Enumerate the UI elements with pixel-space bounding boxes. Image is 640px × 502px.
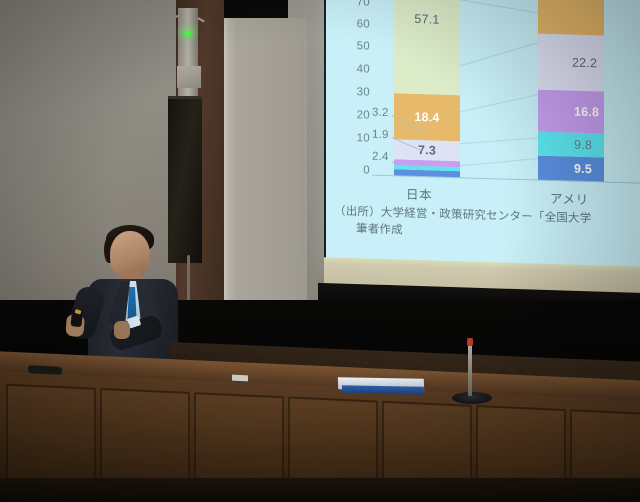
bar-america-segment-2: 9.8 — [538, 132, 604, 158]
floor — [0, 478, 640, 502]
lower-hand — [114, 321, 130, 339]
segment-connector-2 — [460, 41, 542, 66]
y-tick-30: 30 — [357, 86, 370, 98]
small-desk-item — [232, 375, 248, 382]
segment-connector-1 — [460, 0, 545, 15]
microphone-base — [452, 392, 492, 404]
y-tick-50: 50 — [357, 40, 370, 52]
bar-america: 9.5 9.8 16.8 22.2 — [538, 2, 604, 182]
x-label-japan: 日本 — [406, 184, 432, 204]
chart-source-note: （出所）大学経営・政策研究センター「全国大学 筆者作成 — [334, 204, 640, 247]
segment-connector-5 — [460, 157, 545, 166]
x-label-america: アメリ — [550, 188, 589, 208]
callout-1-9: 1.9 — [372, 129, 389, 141]
y-tick-10: 10 — [357, 132, 370, 144]
y-tick-20: 20 — [357, 109, 370, 121]
source-line-2: 筆者作成 — [356, 221, 640, 246]
y-axis: 70 60 50 40 30 20 10 0 — [342, 0, 372, 181]
y-tick-60: 60 — [357, 18, 370, 30]
bar-japan: 2.4 1.9 7.3 18.4 57.1 — [394, 0, 460, 177]
wall-equipment-box — [177, 66, 201, 88]
blue-folder — [342, 385, 424, 394]
microphone-indicator — [467, 338, 473, 346]
y-tick-70: 70 — [357, 0, 370, 9]
projection-screen: 70 60 50 40 30 20 10 0 2.4 — [326, 0, 640, 275]
chart-plot-area: 70 60 50 40 30 20 10 0 2.4 — [342, 0, 640, 189]
microphone-stem — [468, 342, 472, 396]
callout-2-4: 2.4 — [372, 151, 389, 163]
y-tick-0: 0 — [363, 164, 370, 176]
bar-america-segment-3: 16.8 — [538, 90, 604, 134]
bar-japan-segment-5: 18.4 — [394, 93, 460, 141]
lecture-hall-photo: 70 60 50 40 30 20 10 0 2.4 — [0, 0, 640, 502]
bar-america-segment-1: 9.5 — [538, 156, 604, 182]
projected-slide: 70 60 50 40 30 20 10 0 2.4 — [326, 0, 640, 275]
bar-america-segment-5 — [538, 0, 604, 36]
status-led-indicator — [184, 31, 191, 35]
segment-connector-4 — [460, 137, 546, 144]
desk-object — [28, 365, 62, 375]
bar-america-segment-4: 22.2 — [538, 34, 604, 92]
bar-japan-segment-6: 57.1 — [394, 0, 460, 95]
callout-3-2: 3.2 — [372, 107, 389, 119]
y-tick-40: 40 — [357, 63, 370, 75]
segment-connector-3 — [460, 93, 544, 112]
